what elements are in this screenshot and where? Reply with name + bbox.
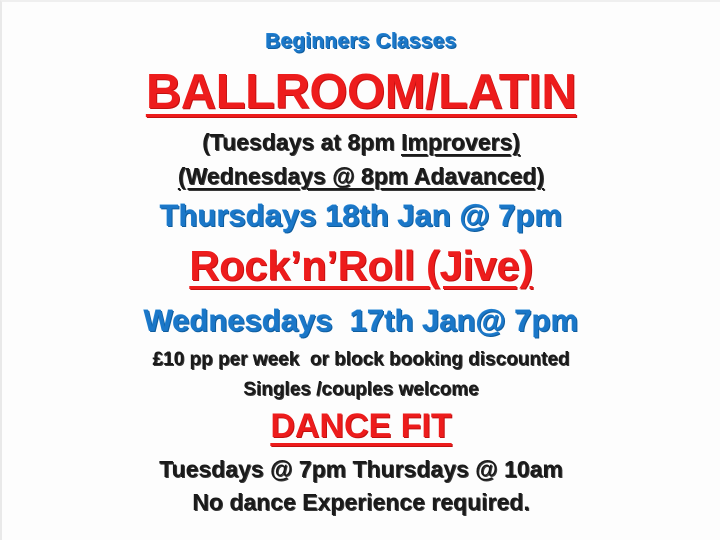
ballroom-latin-title: BALLROOM/LATIN	[2, 68, 720, 117]
tuesdays-improvers-line: (Tuesdays at 8pm Improvers)	[2, 131, 720, 154]
price-line: £10 pp per week or block booking discoun…	[2, 350, 720, 369]
wednesdays-advanced-line: (Wednesdays @ 8pm Adavanced)	[2, 165, 720, 188]
beginners-classes-heading: Beginners Classes	[2, 31, 720, 52]
dance-fit-title: DANCE FIT	[2, 409, 720, 443]
rocknroll-jive-title: Rock’n’Roll (Jive)	[2, 245, 720, 287]
dance-class-poster: Beginners Classes BALLROOM/LATIN (Tuesda…	[0, 0, 720, 540]
no-experience-required-line: No dance Experience required.	[2, 491, 720, 514]
tuesdays-improvers-prefix: (Tuesdays at 8pm	[202, 129, 401, 155]
tuesdays-improvers-underlined: Improvers)	[401, 129, 520, 155]
singles-couples-line: Singles /couples welcome	[2, 380, 720, 399]
dance-fit-times-line: Tuesdays @ 7pm Thursdays @ 10am	[2, 458, 720, 481]
thursdays-18th-jan-line: Thursdays 18th Jan @ 7pm	[2, 200, 720, 231]
wednesdays-17th-jan-line: Wednesdays 17th Jan@ 7pm	[2, 305, 720, 336]
